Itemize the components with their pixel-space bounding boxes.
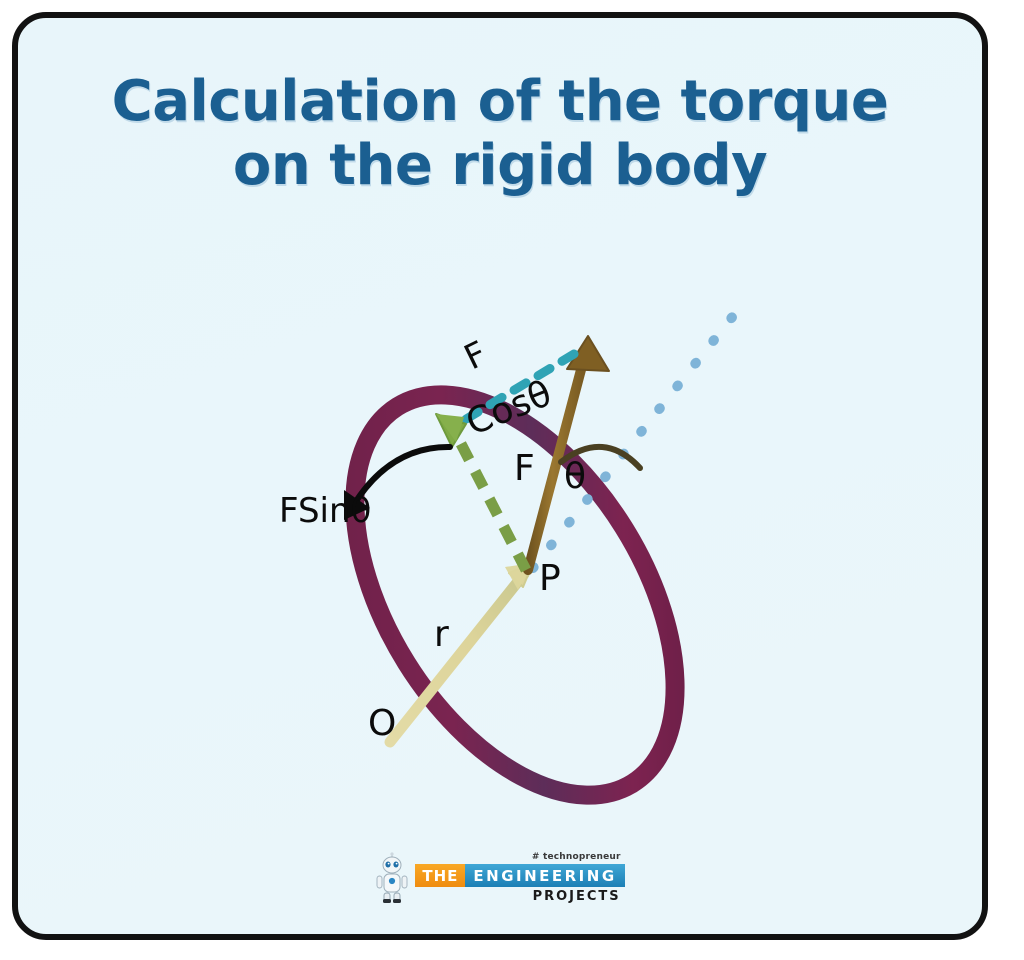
logo-projects: PROJECTS <box>533 889 621 904</box>
infographic-card: Calculation of the torque on the rigid b… <box>12 12 988 940</box>
logo-engineering: ENGINEERING <box>465 864 624 887</box>
torque-diagram-svg <box>18 218 988 838</box>
logo-wordmark: # technopreneur THE ENGINEERING PROJECTS <box>415 852 624 904</box>
page-title: Calculation of the torque on the rigid b… <box>18 70 982 198</box>
logo-the: THE <box>415 864 465 887</box>
robot-mascot-icon <box>375 852 409 904</box>
logo-tagline: # technopreneur <box>532 852 621 862</box>
label-origin-o: O <box>368 703 396 744</box>
label-force-sin-theta: FSinθ <box>279 491 371 531</box>
radius-vector-arrow <box>390 563 533 742</box>
label-force-F: F <box>514 448 535 489</box>
label-theta: θ <box>564 456 586 497</box>
page-title-line-1: Calculation of the torque <box>18 70 982 134</box>
page-title-line-2: on the rigid body <box>18 134 982 198</box>
torque-diagram: F Cosθ F θ FSinθ P r O <box>18 218 988 838</box>
logo-brand-bar: THE ENGINEERING <box>415 864 624 887</box>
label-radius-r: r <box>434 614 449 655</box>
footer-logo: # technopreneur THE ENGINEERING PROJECTS <box>18 852 982 904</box>
label-point-p: P <box>539 558 561 599</box>
